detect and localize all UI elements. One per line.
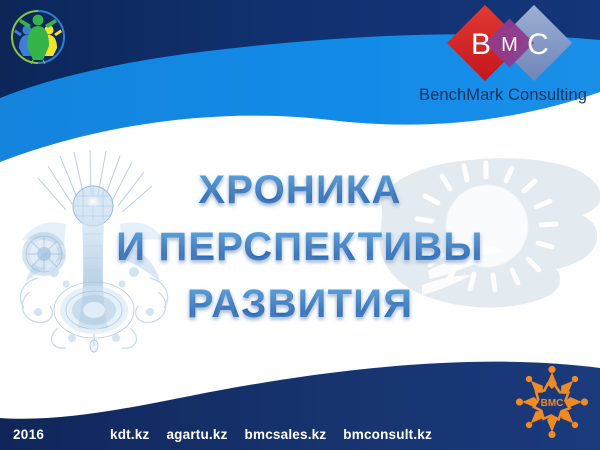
company-name: BenchMark Consulting xyxy=(410,86,596,105)
bmc-letter-c: C xyxy=(527,28,549,61)
site-links-list: kdt.kz agartu.kz bmcsales.kz bmconsult.k… xyxy=(110,427,432,442)
year-label: 2016 xyxy=(13,427,44,442)
site-link-bmcsales[interactable]: bmcsales.kz xyxy=(245,427,327,442)
title-line-2: И ПЕРСПЕКТИВЫ xyxy=(0,219,600,276)
site-link-agartu[interactable]: agartu.kz xyxy=(166,427,227,442)
three-people-circle-icon[interactable] xyxy=(9,8,67,66)
bmc-letter-b: B xyxy=(471,28,491,61)
bmc-ornament-badge-icon[interactable]: BMC xyxy=(516,366,588,438)
bmc-letter-m: M xyxy=(501,34,518,56)
site-link-kdt[interactable]: kdt.kz xyxy=(110,427,149,442)
presentation-slide: B M C BenchMark Consulting ХРОНИКА И ПЕР… xyxy=(0,0,600,450)
site-link-bmconsult[interactable]: bmconsult.kz xyxy=(343,427,432,442)
slide-title: ХРОНИКА И ПЕРСПЕКТИВЫ РАЗВИТИЯ xyxy=(0,162,600,333)
title-line-3: РАЗВИТИЯ xyxy=(0,276,600,333)
bmc-badge-label: BMC xyxy=(541,398,564,409)
title-line-1: ХРОНИКА xyxy=(0,162,600,219)
bmc-diamond-icon[interactable]: B M C xyxy=(447,4,572,84)
